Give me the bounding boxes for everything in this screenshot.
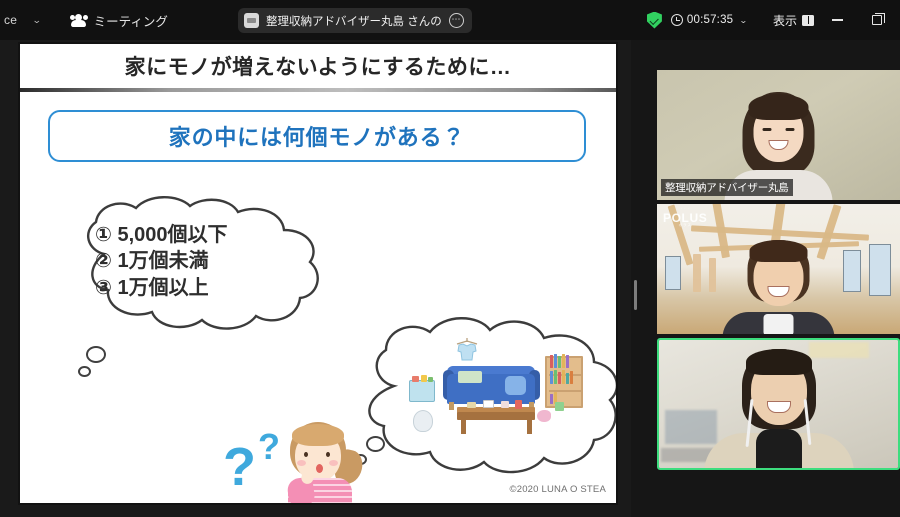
bookshelf-illustration <box>545 356 583 408</box>
sofa-blanket <box>458 371 482 383</box>
minimize-window-button[interactable] <box>820 6 854 34</box>
slide-options-list: ① 5,000個以下 ② 1万個未満 ③ 1万個以上 <box>95 222 325 301</box>
floor-toy <box>537 410 551 422</box>
security-shield-icon[interactable] <box>647 12 662 29</box>
table-clutter <box>467 402 476 408</box>
meeting-timer[interactable]: 00:57:35 ⌄ <box>671 14 747 26</box>
people-icon <box>71 14 87 27</box>
room-illustration <box>405 344 585 449</box>
table-clutter <box>501 401 509 408</box>
eye-left <box>762 128 771 131</box>
question-mark-large: ? <box>223 436 256 498</box>
app-name-label: ce <box>4 13 17 27</box>
drag-handle-icon[interactable] <box>634 280 637 310</box>
shirt <box>764 314 794 334</box>
slide-copyright: ©2020 LUNA O STEA <box>510 484 606 495</box>
meeting-timer-label: 00:57:35 <box>687 14 733 26</box>
eye <box>326 452 330 457</box>
participant-avatar <box>657 204 900 334</box>
minimize-icon <box>832 19 843 20</box>
hair-fringe <box>749 94 809 120</box>
sofa-leg <box>449 402 454 410</box>
table-leg <box>527 420 532 434</box>
floor-toy <box>555 402 564 411</box>
slide-option-1: ① 5,000個以下 <box>95 222 325 248</box>
meeting-top-bar: ce ⌄ ミーティング 整理収納アドバイザー丸島 さんの ⋯ 00:57:35 … <box>0 0 900 40</box>
shared-content-region[interactable]: 家にモノが増えないようにするために… 家の中には何個モノがある？ ① 5,000… <box>0 40 633 517</box>
thinking-woman-illustration <box>266 420 376 505</box>
table-illustration <box>457 412 535 420</box>
cheek <box>329 460 338 466</box>
slide-question-text: 家の中には何個モノがある？ <box>169 120 465 152</box>
table-clutter <box>483 400 494 408</box>
table-clutter <box>515 400 522 409</box>
slide-option-2: ② 1万個未満 <box>95 248 325 274</box>
meeting-stage: 家にモノが増えないようにするために… 家の中には何個モノがある？ ① 5,000… <box>0 40 900 517</box>
presentation-slide[interactable]: 家にモノが増えないようにするために… 家の中には何個モノがある？ ① 5,000… <box>18 42 618 505</box>
thought-trail-left <box>78 340 138 390</box>
view-layout-button[interactable]: 表示 <box>773 12 814 29</box>
cheek <box>297 460 306 466</box>
vase-illustration <box>413 410 433 432</box>
slide-title-divider <box>20 88 616 92</box>
layout-icon <box>802 15 814 26</box>
participant-video-tile-1[interactable]: 整理収納アドバイザー丸島 <box>657 70 900 200</box>
participant-avatar <box>660 341 898 468</box>
topbar-left-group: ce ⌄ ミーティング <box>0 11 168 30</box>
chevron-down-icon[interactable]: ⌄ <box>29 15 44 26</box>
participant-name-label: 整理収納アドバイザー丸島 <box>661 179 793 196</box>
slide-title: 家にモノが増えないようにするために… <box>20 51 616 81</box>
meeting-menu-button[interactable]: ミーティング <box>71 11 168 30</box>
participant-video-tile-2[interactable]: · · · POLUS ポラス <box>657 204 900 334</box>
meeting-menu-label: ミーティング <box>94 11 168 30</box>
share-video-splitter[interactable] <box>631 40 639 517</box>
teams-meeting-window: ce ⌄ ミーティング 整理収納アドバイザー丸島 さんの ⋯ 00:57:35 … <box>0 0 900 517</box>
hair-fringe <box>750 240 808 262</box>
eye <box>304 452 308 457</box>
slide-question-box: 家の中には何個モノがある？ <box>48 110 586 162</box>
topbar-right-group: 00:57:35 ⌄ 表示 <box>647 0 894 40</box>
hair-fringe <box>292 424 344 446</box>
toy-box-illustration <box>409 380 435 402</box>
participant-video-tile-3-active-speaker[interactable] <box>657 338 900 470</box>
hanging-clothes-illustration <box>453 336 481 362</box>
clock-icon <box>671 14 683 26</box>
slide-option-3: ③ 1万個以上 <box>95 275 325 301</box>
share-title-label: 整理収納アドバイザー丸島 さんの <box>266 13 442 29</box>
more-options-icon[interactable]: ⋯ <box>449 13 464 28</box>
eye-right <box>785 128 794 131</box>
mouth <box>767 401 791 413</box>
hair-fringe <box>746 349 812 375</box>
screen-share-indicator-pill[interactable]: 整理収納アドバイザー丸島 さんの ⋯ <box>238 8 472 33</box>
chevron-down-icon[interactable]: ⌄ <box>739 16 748 25</box>
mouth <box>316 464 323 473</box>
restore-window-button[interactable] <box>860 6 894 34</box>
restore-icon <box>872 15 882 25</box>
turtleneck <box>756 429 802 469</box>
video-participant-rail: 整理収納アドバイザー丸島 · · · <box>639 40 900 517</box>
view-button-label: 表示 <box>773 12 797 29</box>
table-leg <box>461 420 466 434</box>
presentation-thumbnail-icon <box>244 13 259 28</box>
sofa-cushion <box>505 376 526 395</box>
